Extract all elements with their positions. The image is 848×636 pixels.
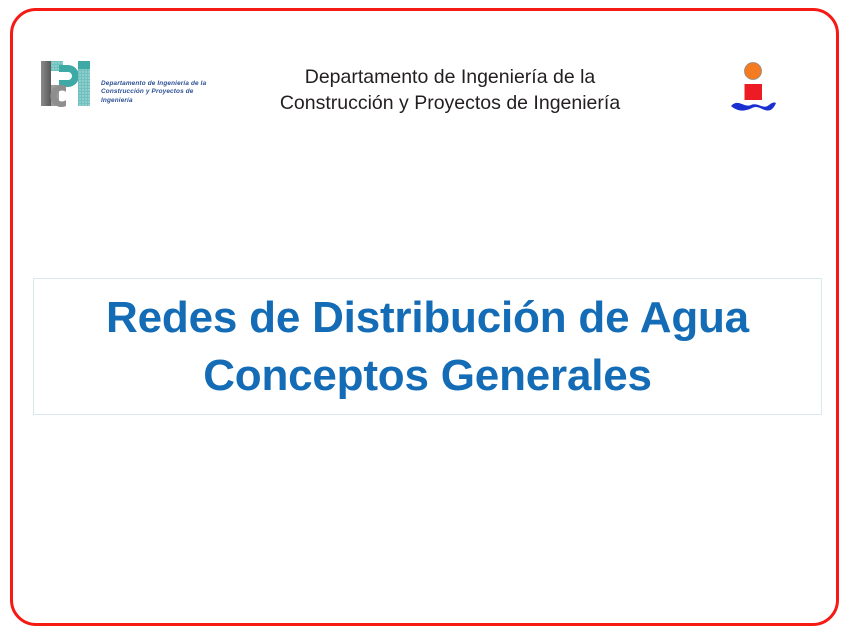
logo-caption: Departamento de Ingeniería de la Constru… [101, 80, 213, 105]
dicpi-monogram-logo [40, 59, 92, 109]
person-over-water-icon [729, 60, 779, 112]
header-department-title: Departamento de Ingeniería de la Constru… [248, 64, 652, 116]
main-title-line-1: Redes de Distribución de Agua [106, 289, 749, 347]
slide-canvas: Departamento de Ingeniería de la Constru… [0, 0, 848, 636]
slide-header: Departamento de Ingeniería de la Constru… [0, 0, 848, 140]
main-title-line-2: Conceptos Generales [203, 347, 652, 405]
main-title-box: Redes de Distribución de Agua Conceptos … [33, 278, 822, 415]
